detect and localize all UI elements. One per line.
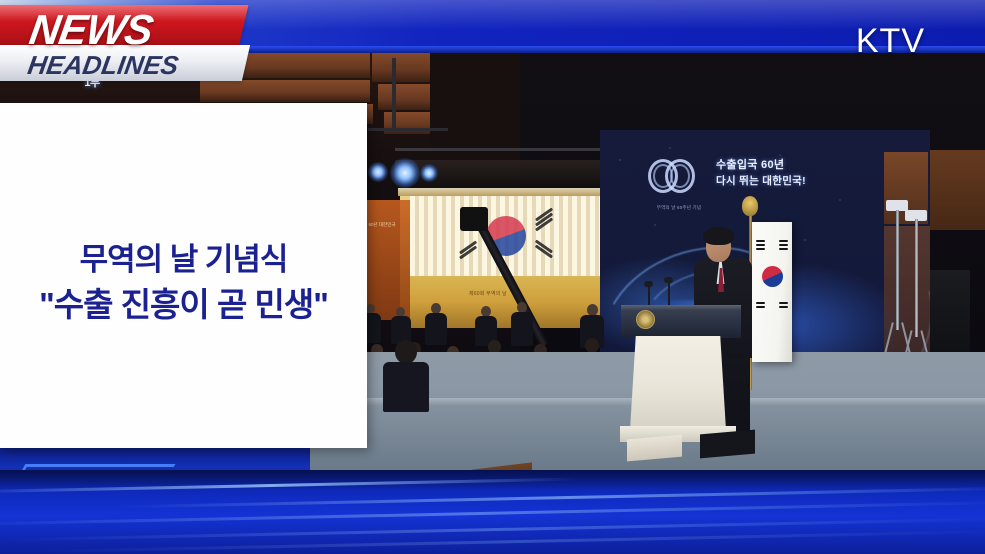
trigram-bar — [756, 306, 765, 308]
ceiling-wood-panel — [372, 52, 430, 82]
anniversary-60-logo — [648, 155, 708, 201]
news-headlines-emblem: NEWS HEADLINES — [0, 5, 256, 90]
ceiling-wood-panel — [378, 84, 433, 110]
microphone-capsule — [664, 277, 673, 283]
trigram-bar — [756, 248, 765, 250]
trigram-bar — [756, 244, 765, 246]
crane-camera-head — [460, 207, 488, 231]
person-head — [395, 340, 417, 364]
stage-spotlight — [368, 162, 388, 182]
wooden-door — [930, 150, 985, 230]
backdrop-slogan: 수출입국 60년 다시 뛰는 대한민국! — [716, 158, 806, 189]
light-stand — [904, 210, 938, 365]
trigram-bar — [756, 240, 765, 242]
logo-ring-inner-right — [670, 164, 690, 188]
emblem-news-text: NEWS — [26, 6, 156, 54]
headline-line-1: 무역의 날 기념식 — [0, 240, 367, 280]
backdrop-slogan-line2: 다시 뛰는 대한민국! — [716, 174, 806, 189]
trigram-bar — [779, 248, 788, 250]
trigram-bar — [779, 306, 788, 308]
lighting-truss-vertical — [392, 58, 396, 130]
headline-line-2: "수출 진흥이 곧 민생" — [0, 284, 367, 326]
korean-flag-standing — [752, 222, 792, 362]
lighting-truss — [368, 128, 448, 131]
broadcast-screenshot: 60년 대한민국 제60회 무역의 날 무역의 날 60주년 기념 수출입국 6… — [0, 0, 985, 554]
stand-pole — [915, 219, 918, 337]
flag-finial — [742, 196, 758, 216]
trigram-bar — [779, 244, 788, 246]
bar-light-streak — [40, 530, 985, 553]
taegeuk-circle — [762, 266, 783, 287]
person-body — [383, 362, 429, 412]
emblem-headlines-text: HEADLINES — [26, 50, 181, 81]
backdrop-caption: 무역의 날 60주년 기념 — [640, 205, 718, 211]
headline-text-block: 무역의 날 기념식 "수출 진흥이 곧 민생" — [0, 240, 367, 326]
stage-spotlight — [420, 164, 438, 182]
stand-leg — [884, 322, 894, 354]
bottom-blue-bar — [0, 470, 985, 554]
trigram-bar — [756, 302, 765, 304]
person-head — [585, 338, 599, 353]
stand-pole — [896, 210, 899, 330]
trigram-bar — [779, 302, 788, 304]
floor-dark-case — [700, 430, 755, 459]
stage-spotlight — [390, 158, 420, 188]
podium-body — [630, 336, 726, 430]
presidential-seal — [636, 310, 655, 329]
channel-bug-ktv: KTV — [856, 22, 925, 61]
foreground-person-silhouette — [383, 340, 429, 410]
trigram-bar — [779, 240, 788, 242]
ceiling-shadow-gap — [430, 52, 525, 157]
speaker-hair — [703, 227, 734, 245]
backdrop-slogan-line1: 수출입국 60년 — [716, 158, 806, 174]
microphone-capsule — [644, 281, 653, 287]
